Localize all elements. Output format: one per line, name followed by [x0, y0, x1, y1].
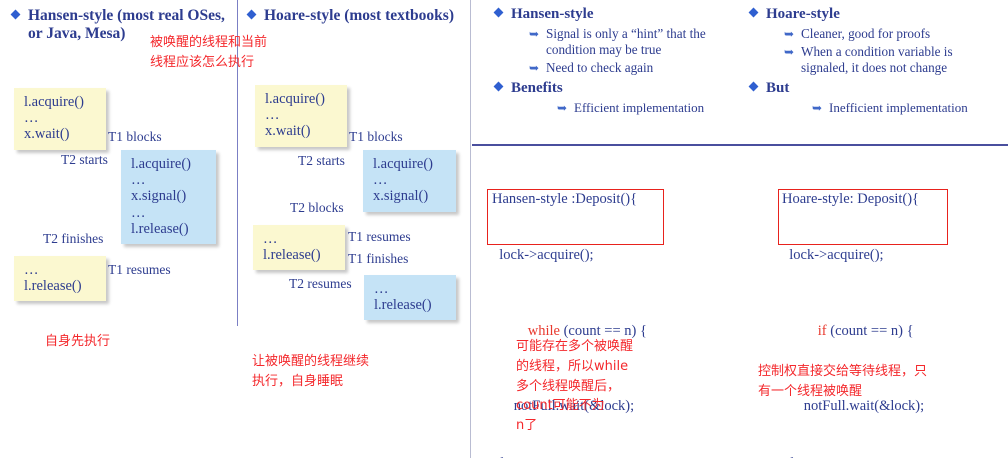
hansen-list-item-0: ➥Signal is only a “hint” that the condit… [529, 26, 745, 58]
hoare-if-highlight-box [778, 189, 948, 245]
hoare-code-close-brace: } [782, 454, 924, 458]
hoare-label-t1-finishes: T1 finishes [348, 251, 408, 267]
annotation-hoare-direct-handoff: 控制权直接交给等待线程，只 有一个线程被唤醒 [758, 362, 1008, 402]
hansen-benefits-item-0: ➥Efficient implementation [557, 100, 745, 116]
hansen-box-t1-release: … l.release() [14, 256, 106, 301]
slide-canvas: Hansen-style (most real OSes, or Java, M… [0, 0, 1008, 458]
arrow-bullet-icon: ➥ [557, 101, 567, 116]
diamond-bullet-icon [749, 82, 759, 92]
hoare-code-acquire: lock->acquire(); [782, 246, 924, 265]
hoare-heading-text: Hoare-style (most textbooks) [264, 7, 454, 24]
arrow-bullet-icon: ➥ [529, 27, 539, 42]
hoare-label-t1-resumes: T1 resumes [348, 229, 411, 245]
hoare-box-t2-release: … l.release() [364, 275, 456, 320]
annotation-hoare-wake-continue: 让被唤醒的线程继续 执行，自身睡眠 [252, 352, 442, 392]
hansen-box-t1-wait: l.acquire() … x.wait() [14, 88, 106, 150]
arrow-bullet-icon: ➥ [784, 45, 794, 60]
hansen-list-item-0-text: Signal is only a “hint” that the conditi… [546, 26, 706, 58]
hoare-list-item-1-text: When a condition variable is signaled, i… [801, 44, 953, 76]
hansen-label-t1-resumes: T1 resumes [108, 262, 171, 278]
hoare-box-t1-release: … l.release() [253, 225, 345, 270]
hansen-label-t1-blocks: T1 blocks [108, 129, 162, 145]
hoare-code-if-line: if (count == n) { [782, 303, 924, 360]
hoare-but-title-text: But [766, 80, 789, 96]
hoare-code-keyword: if [818, 323, 827, 339]
hoare-but-title: But [750, 79, 1005, 98]
hoare-diagram-heading: Hoare-style (most textbooks) [248, 7, 468, 25]
hansen-benefits-title: Benefits [495, 79, 745, 98]
annotation-top-question: 被唤醒的线程和当前 线程应该怎么执行 [150, 33, 350, 73]
arrow-bullet-icon: ➥ [784, 27, 794, 42]
hoare-code-condition: (count == n) { [827, 323, 914, 339]
diamond-bullet-icon [247, 9, 257, 19]
hoare-bullet-list: Hoare-style ➥Cleaner, good for proofs ➥W… [750, 5, 1005, 116]
diamond-bullet-icon [494, 8, 504, 18]
divider-vertical-center [470, 0, 471, 458]
arrow-bullet-icon: ➥ [529, 61, 539, 76]
hansen-label-t2-finishes: T2 finishes [43, 231, 103, 247]
hansen-benefits-item-0-text: Efficient implementation [574, 100, 704, 115]
hansen-label-t2-starts: T2 starts [61, 152, 108, 168]
hoare-but-item-0-text: Inefficient implementation [829, 100, 968, 115]
hoare-label-t2-blocks: T2 blocks [290, 200, 344, 216]
hansen-while-highlight-box [487, 189, 664, 245]
arrow-bullet-icon: ➥ [812, 101, 822, 116]
hansen-code-acquire: lock->acquire(); [492, 246, 647, 265]
hansen-code-close-brace: } [492, 454, 647, 458]
annotation-hansen-self-first: 自身先执行 [45, 332, 110, 352]
annotation-hansen-multiple-threads: 可能存在多个被唤醒 的线程，所以while 多个线程唤醒后， count可能不为… [516, 337, 681, 436]
diamond-bullet-icon [11, 9, 21, 19]
hansen-bullet-list: Hansen-style ➥Signal is only a “hint” th… [495, 5, 745, 116]
hoare-label-t2-starts: T2 starts [298, 153, 345, 169]
hansen-list-item-1-text: Need to check again [546, 60, 653, 76]
hoare-list-title: Hoare-style [750, 5, 1005, 24]
diamond-bullet-icon [749, 8, 759, 18]
hoare-box-t2-signal: l.acquire() … x.signal() [363, 150, 456, 212]
hoare-list-item-0-text: Cleaner, good for proofs [801, 26, 930, 42]
hansen-heading-line1: Hansen-style (most real OSes, [28, 7, 225, 24]
hoare-but-item-0: ➥Inefficient implementation [812, 100, 1005, 116]
hoare-list-title-text: Hoare-style [766, 6, 840, 22]
hoare-list-item-1: ➥When a condition variable is signaled, … [784, 44, 1005, 76]
diamond-bullet-icon [494, 82, 504, 92]
hoare-label-t2-resumes: T2 resumes [289, 276, 352, 292]
hansen-benefits-title-text: Benefits [511, 80, 563, 96]
hoare-list-item-0: ➥Cleaner, good for proofs [784, 26, 1005, 42]
hansen-box-t2-signal: l.acquire() … x.signal() … l.release() [121, 150, 216, 244]
hoare-box-t1-wait: l.acquire() … x.wait() [255, 85, 347, 147]
hansen-list-title-text: Hansen-style [511, 6, 594, 22]
divider-horizontal-right [472, 144, 1008, 146]
hoare-label-t1-blocks: T1 blocks [349, 129, 403, 145]
hansen-list-item-1: ➥Need to check again [529, 60, 745, 76]
hansen-list-title: Hansen-style [495, 5, 745, 24]
